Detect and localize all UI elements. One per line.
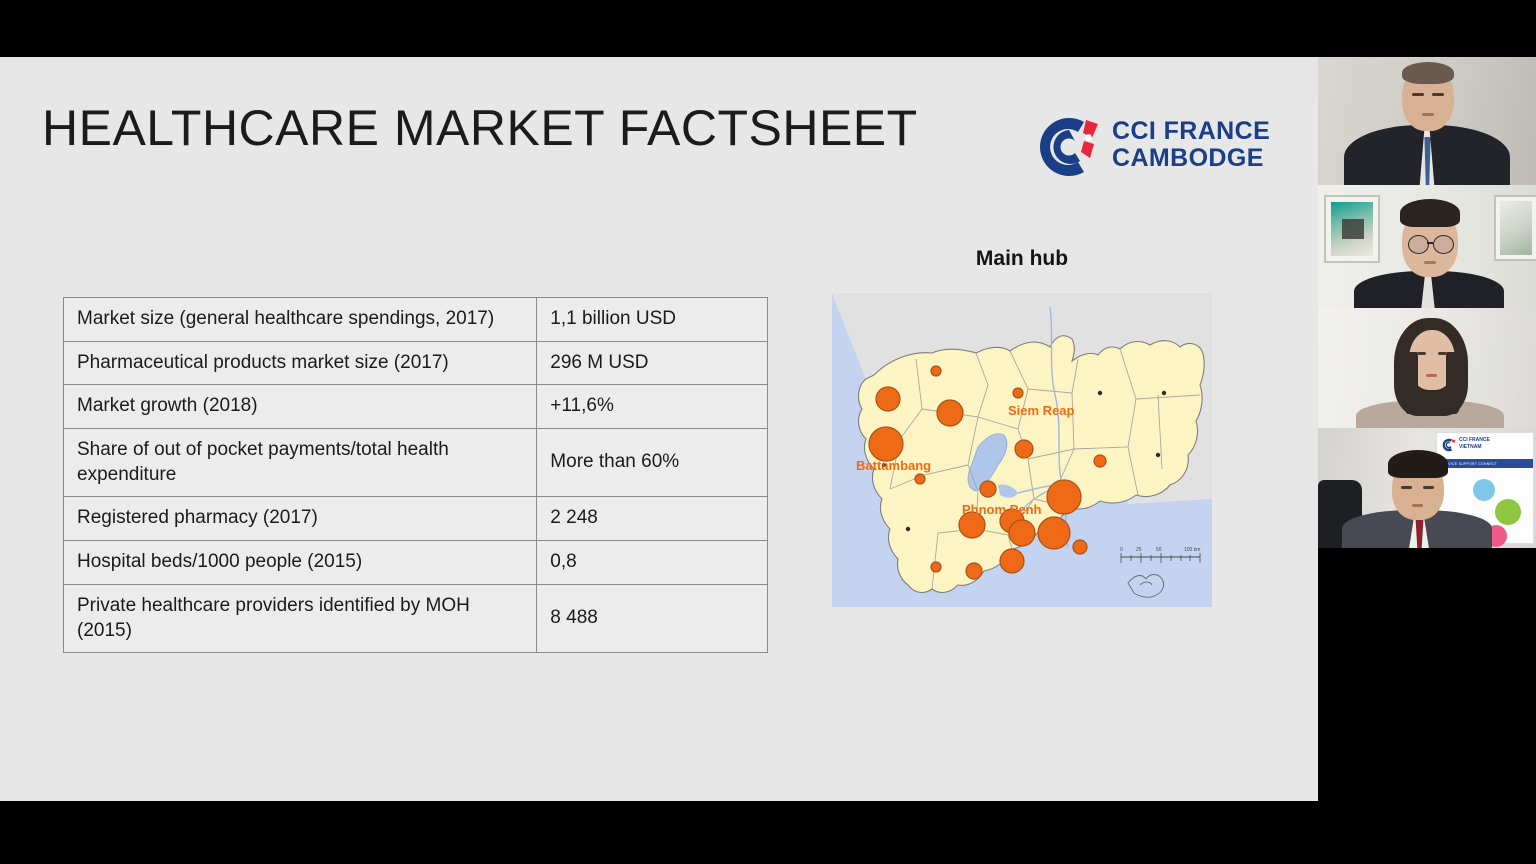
participant-tile-1[interactable] <box>1318 57 1536 185</box>
healthcare-factsheet-table: Market size (general healthcare spending… <box>63 297 768 653</box>
page-title: HEALTHCARE MARKET FACTSHEET <box>42 99 918 157</box>
logo-line-2: CAMBODGE <box>1112 145 1270 172</box>
map-label-battambang: Battambang <box>856 458 931 473</box>
table-row: Registered pharmacy (2017) 2 248 <box>64 497 768 541</box>
logo-wordmark: CCI FRANCE CAMBODGE <box>1112 118 1270 171</box>
cci-circle-mark-icon <box>1036 114 1102 180</box>
banner-circle-1 <box>1473 479 1495 501</box>
screen-capture: HEALTHCARE MARKET FACTSHEET CCI FRANCE C… <box>0 0 1536 864</box>
banner-logo-line-1: CCI FRANCE <box>1459 438 1490 444</box>
row-value: +11,6% <box>537 385 768 429</box>
banner-circle-2 <box>1495 499 1521 525</box>
eyeglasses-bridge <box>1427 242 1433 244</box>
svg-text:0: 0 <box>1120 547 1123 553</box>
row-label: Share of out of pocket payments/total he… <box>64 429 537 497</box>
svg-text:50: 50 <box>1156 547 1162 553</box>
row-label: Market growth (2018) <box>64 385 537 429</box>
row-label: Hospital beds/1000 people (2015) <box>64 541 537 585</box>
eyeglasses-left-lens <box>1408 235 1429 254</box>
main-hub-map-panel: Main hub <box>828 247 1216 611</box>
video-participant-column: CCI FRANCE VIETNAM ADVICE SUPPORT CONNEC… <box>1318 57 1536 548</box>
row-value: 2 248 <box>537 497 768 541</box>
table-row: Market growth (2018) +11,6% <box>64 385 768 429</box>
row-label: Private healthcare providers identified … <box>64 584 537 652</box>
cci-france-cambodge-logo: CCI FRANCE CAMBODGE <box>1036 112 1264 184</box>
wall-artwork-right <box>1494 195 1536 261</box>
map-label-phnom-penh: Phnom Penh <box>962 502 1042 517</box>
table-row: Share of out of pocket payments/total he… <box>64 429 768 497</box>
wall-artwork-left <box>1324 195 1380 263</box>
row-value: 0,8 <box>537 541 768 585</box>
banner-logo-line-2: VIETNAM <box>1459 445 1482 451</box>
cambodia-map-image: Siem Reap Battambang Phnom Penh 0 25 50 … <box>828 289 1216 611</box>
participant-tile-4[interactable]: CCI FRANCE VIETNAM ADVICE SUPPORT CONNEC… <box>1318 428 1536 548</box>
logo-line-1: CCI FRANCE <box>1112 118 1270 145</box>
banner-cci-mark-icon <box>1442 438 1456 452</box>
row-label: Registered pharmacy (2017) <box>64 497 537 541</box>
table-body: Market size (general healthcare spending… <box>64 298 768 653</box>
svg-text:100 km: 100 km <box>1184 547 1200 553</box>
table-row: Pharmaceutical products market size (201… <box>64 341 768 385</box>
table-row: Private healthcare providers identified … <box>64 584 768 652</box>
table-row: Market size (general healthcare spending… <box>64 298 768 342</box>
row-value: 1,1 billion USD <box>537 298 768 342</box>
participant-tile-3[interactable] <box>1318 308 1536 428</box>
eyeglasses-right-lens <box>1433 235 1454 254</box>
row-value: 8 488 <box>537 584 768 652</box>
banner-strip-text: ADVICE SUPPORT CONNECT <box>1443 462 1497 466</box>
cambodia-map-svg: Siem Reap Battambang Phnom Penh 0 25 50 … <box>828 289 1216 611</box>
map-heading: Main hub <box>828 247 1216 271</box>
table-row: Hospital beds/1000 people (2015) 0,8 <box>64 541 768 585</box>
row-value: 296 M USD <box>537 341 768 385</box>
participant-tile-2[interactable] <box>1318 185 1536 308</box>
presentation-slide: HEALTHCARE MARKET FACTSHEET CCI FRANCE C… <box>0 57 1318 801</box>
row-value: More than 60% <box>537 429 768 497</box>
svg-text:25: 25 <box>1136 547 1142 553</box>
row-label: Market size (general healthcare spending… <box>64 298 537 342</box>
row-label: Pharmaceutical products market size (201… <box>64 341 537 385</box>
map-label-siem-reap: Siem Reap <box>1008 403 1075 418</box>
